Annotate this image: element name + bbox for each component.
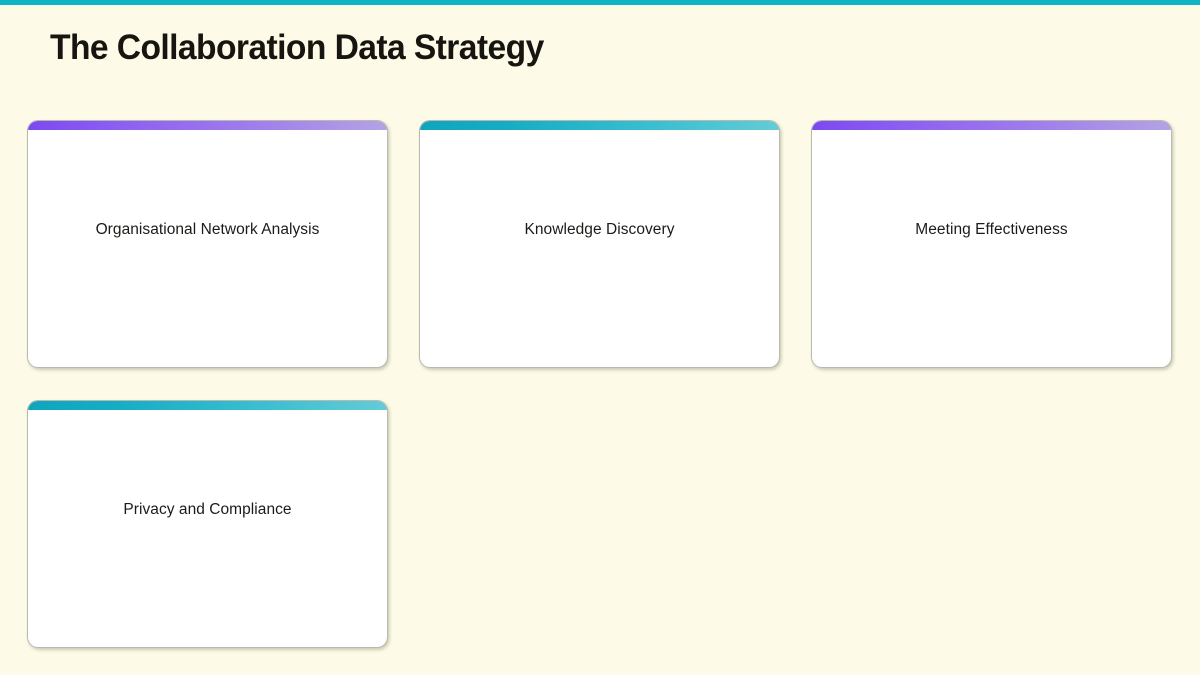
top-accent-bar [0, 0, 1200, 5]
card-organisational-network-analysis[interactable]: Organisational Network Analysis [27, 120, 388, 368]
card-title: Meeting Effectiveness [812, 220, 1171, 240]
card-accent-bar [420, 121, 779, 130]
card-accent-bar [28, 401, 387, 410]
card-accent-bar [812, 121, 1171, 130]
card-title: Organisational Network Analysis [28, 220, 387, 240]
card-privacy-and-compliance[interactable]: Privacy and Compliance [27, 400, 388, 648]
card-knowledge-discovery[interactable]: Knowledge Discovery [419, 120, 780, 368]
card-title: Privacy and Compliance [28, 500, 387, 520]
card-grid: Organisational Network Analysis Knowledg… [27, 120, 1173, 648]
card-title: Knowledge Discovery [420, 220, 779, 240]
page-title: The Collaboration Data Strategy [50, 28, 544, 68]
card-meeting-effectiveness[interactable]: Meeting Effectiveness [811, 120, 1172, 368]
card-accent-bar [28, 121, 387, 130]
